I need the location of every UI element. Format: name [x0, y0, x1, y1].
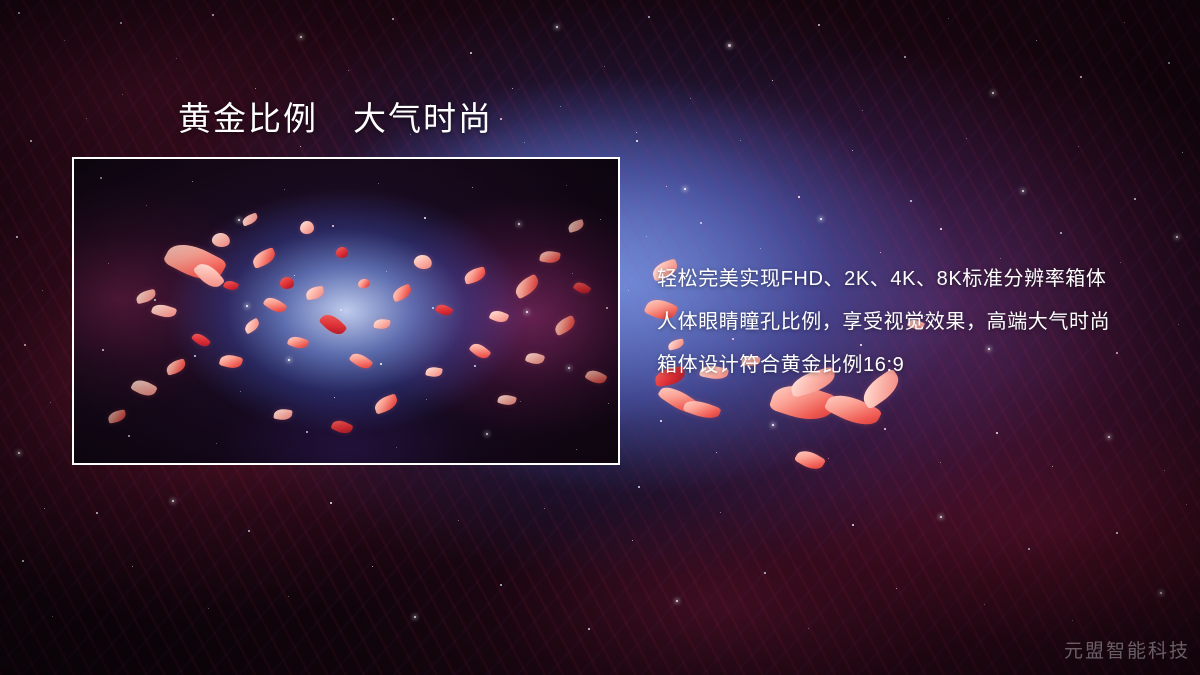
framed-image-content: [74, 159, 618, 463]
star: [636, 140, 638, 142]
petal: [573, 279, 592, 296]
petal: [250, 247, 277, 269]
star: [638, 486, 640, 488]
star: [378, 183, 379, 184]
star: [684, 188, 686, 190]
petal: [330, 417, 353, 437]
star: [392, 18, 394, 20]
star: [996, 432, 998, 434]
star: [880, 252, 881, 253]
star: [512, 88, 513, 89]
petal: [130, 376, 158, 400]
star: [458, 520, 459, 521]
star: [334, 397, 335, 398]
page-title: 黄金比例 大气时尚: [178, 100, 493, 139]
petal: [193, 259, 226, 293]
star: [426, 399, 427, 400]
star: [288, 359, 290, 361]
star: [172, 500, 174, 502]
star: [600, 219, 601, 220]
star: [238, 219, 240, 221]
star: [1134, 198, 1136, 200]
star: [340, 309, 342, 311]
petal: [567, 219, 585, 233]
star: [306, 431, 308, 433]
petal: [165, 358, 188, 376]
star: [414, 616, 416, 618]
framed-image-petals: [74, 159, 618, 463]
star: [904, 56, 906, 58]
star: [716, 452, 717, 453]
star: [18, 12, 20, 14]
petal: [512, 274, 542, 300]
body-copy-line-2: 人体眼睛瞳孔比例，享受视觉效果，高端大气时尚: [657, 301, 1177, 344]
star: [940, 462, 941, 463]
star: [1108, 436, 1110, 438]
framed-image-starfield: [74, 159, 618, 463]
petal: [279, 276, 294, 289]
star: [544, 508, 545, 509]
star: [86, 118, 87, 119]
star: [576, 449, 577, 450]
star: [486, 433, 488, 435]
star: [208, 608, 209, 609]
petal: [463, 266, 488, 285]
star: [1060, 232, 1062, 234]
petal: [425, 365, 443, 378]
petal: [539, 249, 561, 264]
star: [300, 146, 301, 147]
star: [284, 189, 285, 190]
star: [24, 344, 26, 346]
star: [1186, 504, 1187, 505]
star: [648, 16, 650, 18]
star: [1022, 190, 1024, 192]
star: [690, 98, 691, 99]
petal: [263, 294, 288, 316]
star: [524, 142, 525, 143]
star: [572, 273, 573, 274]
star: [896, 588, 897, 589]
star: [194, 355, 196, 357]
star: [700, 222, 702, 224]
star: [246, 305, 248, 307]
petal: [287, 334, 310, 351]
petal: [468, 340, 491, 362]
petal: [823, 387, 882, 432]
petal: [584, 367, 607, 387]
star: [556, 26, 558, 28]
star: [1072, 620, 1073, 621]
star: [120, 22, 122, 24]
star: [480, 277, 481, 278]
star: [628, 290, 629, 291]
star: [740, 140, 741, 141]
petal: [390, 283, 413, 302]
star: [240, 391, 241, 392]
star: [500, 584, 502, 586]
star: [852, 524, 854, 526]
star: [300, 36, 302, 38]
star: [100, 177, 102, 179]
star: [380, 363, 382, 365]
star: [16, 236, 18, 238]
star: [102, 349, 104, 351]
petal: [151, 302, 178, 321]
star: [192, 181, 193, 182]
star: [1160, 592, 1162, 594]
star: [472, 187, 473, 188]
star: [146, 205, 147, 206]
star: [1080, 76, 1082, 78]
star: [348, 70, 349, 71]
star: [248, 530, 250, 532]
petal: [223, 279, 239, 293]
star: [474, 365, 476, 367]
star: [518, 223, 520, 225]
star: [606, 307, 608, 309]
star: [560, 106, 561, 107]
star: [760, 248, 761, 249]
star: [200, 269, 201, 270]
star: [255, 88, 256, 89]
star: [176, 58, 177, 59]
star: [1036, 40, 1037, 41]
star: [1176, 236, 1178, 238]
star: [18, 452, 20, 454]
star: [52, 616, 53, 617]
star: [1164, 470, 1165, 471]
star: [646, 236, 647, 237]
star: [666, 186, 667, 187]
star: [526, 311, 528, 313]
star: [470, 52, 472, 54]
star: [1028, 548, 1030, 550]
body-copy-line-3: 箱体设计符合黄金比例16:9: [657, 344, 1177, 387]
star: [984, 604, 985, 605]
star: [772, 424, 774, 426]
petal: [335, 246, 348, 258]
star: [216, 443, 217, 444]
body-copy-line-1: 轻松完美实现FHD、2K、4K、8K标准分辨率箱体: [657, 258, 1177, 301]
petal: [191, 330, 211, 349]
star: [42, 290, 43, 291]
star: [852, 150, 853, 151]
star: [828, 458, 829, 459]
star: [728, 44, 731, 47]
star: [910, 200, 912, 202]
star: [424, 217, 426, 219]
petal: [107, 409, 127, 424]
star: [386, 271, 387, 272]
star: [764, 572, 766, 574]
star: [132, 566, 133, 567]
star: [96, 512, 98, 514]
star: [154, 299, 156, 301]
star: [966, 138, 967, 139]
petal: [273, 408, 292, 421]
star: [1052, 466, 1053, 467]
star: [22, 560, 24, 562]
star: [122, 94, 123, 95]
star: [212, 14, 214, 16]
star: [808, 628, 809, 629]
star: [820, 218, 822, 220]
star: [50, 402, 51, 403]
star: [636, 132, 637, 133]
petal: [219, 352, 244, 371]
star: [330, 502, 332, 504]
petal: [135, 289, 157, 305]
petal: [300, 221, 314, 234]
petal: [497, 393, 517, 407]
star: [948, 18, 949, 19]
star: [30, 140, 32, 142]
star: [500, 118, 502, 120]
petal: [794, 446, 826, 474]
star: [520, 401, 521, 402]
petal: [349, 350, 374, 373]
star: [566, 185, 567, 186]
petal: [413, 253, 434, 271]
star: [992, 92, 994, 94]
star: [1178, 324, 1179, 325]
star: [604, 66, 605, 67]
petal: [683, 396, 722, 422]
star: [1168, 62, 1170, 64]
star: [332, 225, 334, 227]
petal: [162, 235, 227, 289]
star: [608, 403, 609, 404]
star: [294, 275, 295, 276]
star: [128, 435, 130, 437]
star: [772, 80, 773, 81]
petal: [357, 278, 370, 289]
petal: [552, 315, 577, 336]
star: [288, 596, 289, 597]
star: [64, 40, 65, 41]
petal: [489, 308, 510, 325]
framed-image: [72, 157, 620, 465]
star: [720, 512, 721, 513]
petal: [243, 318, 262, 335]
petal: [318, 310, 347, 339]
petal: [241, 213, 259, 227]
star: [1078, 146, 1079, 147]
framed-image-vignette: [74, 159, 618, 463]
petal: [525, 350, 546, 366]
petal: [372, 393, 399, 414]
star: [818, 24, 820, 26]
star: [44, 508, 45, 509]
star: [660, 420, 662, 422]
star: [108, 263, 109, 264]
petal: [435, 302, 454, 319]
slide-canvas: 黄金比例 大气时尚 轻松完美实现FHD、2K、4K、8K标准分辨率箱体 人体眼睛…: [0, 0, 1200, 675]
star: [568, 367, 570, 369]
star: [862, 110, 863, 111]
star: [588, 628, 590, 630]
star: [940, 516, 942, 518]
star: [632, 540, 633, 541]
watermark: 元盟智能科技: [1064, 636, 1190, 663]
petal: [373, 318, 390, 330]
star: [432, 307, 434, 309]
body-copy: 轻松完美实现FHD、2K、4K、8K标准分辨率箱体 人体眼睛瞳孔比例，享受视觉效…: [657, 258, 1177, 387]
star: [1116, 532, 1118, 534]
petal: [305, 286, 324, 300]
star: [372, 566, 373, 567]
star: [676, 600, 678, 602]
star: [1182, 152, 1183, 153]
star: [396, 447, 397, 448]
star: [940, 228, 942, 230]
star: [798, 196, 800, 198]
star: [1124, 22, 1125, 23]
petal: [211, 232, 231, 249]
star: [148, 385, 149, 386]
star: [884, 428, 886, 430]
